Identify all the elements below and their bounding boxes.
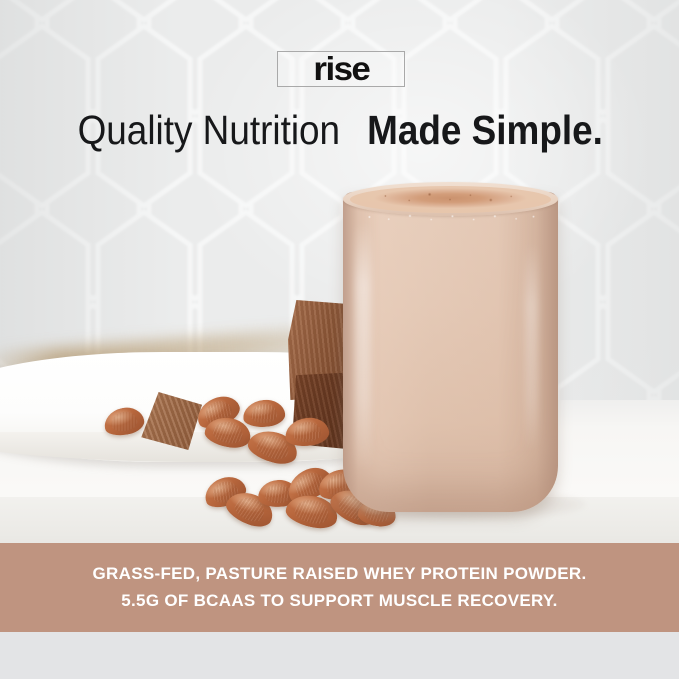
banner-line-1: GRASS-FED, PASTURE RAISED WHEY PROTEIN P… [93, 561, 587, 587]
headline-bold-text: Made Simple. [367, 108, 603, 152]
product-advertisement: rise Quality Nutrition Made Simple. GRAS… [0, 0, 679, 679]
cocoa-dusting [365, 188, 535, 208]
rise-logo: rise [277, 51, 405, 87]
chocolate-protein-shake-glass [343, 182, 558, 512]
banner-line-2: 5.5G OF BCAAS TO SUPPORT MUSCLE RECOVERY… [121, 588, 557, 614]
rise-logo-text: rise [313, 52, 369, 85]
product-claims-banner: GRASS-FED, PASTURE RAISED WHEY PROTEIN P… [0, 543, 679, 632]
glass-highlight-left [355, 222, 371, 472]
page-title: Quality Nutrition Made Simple. [0, 108, 679, 152]
footer-strip [0, 632, 679, 679]
headline-light-text: Quality Nutrition [77, 108, 340, 152]
foam-bubble-ring [354, 208, 547, 226]
glass-highlight-right [525, 242, 538, 452]
